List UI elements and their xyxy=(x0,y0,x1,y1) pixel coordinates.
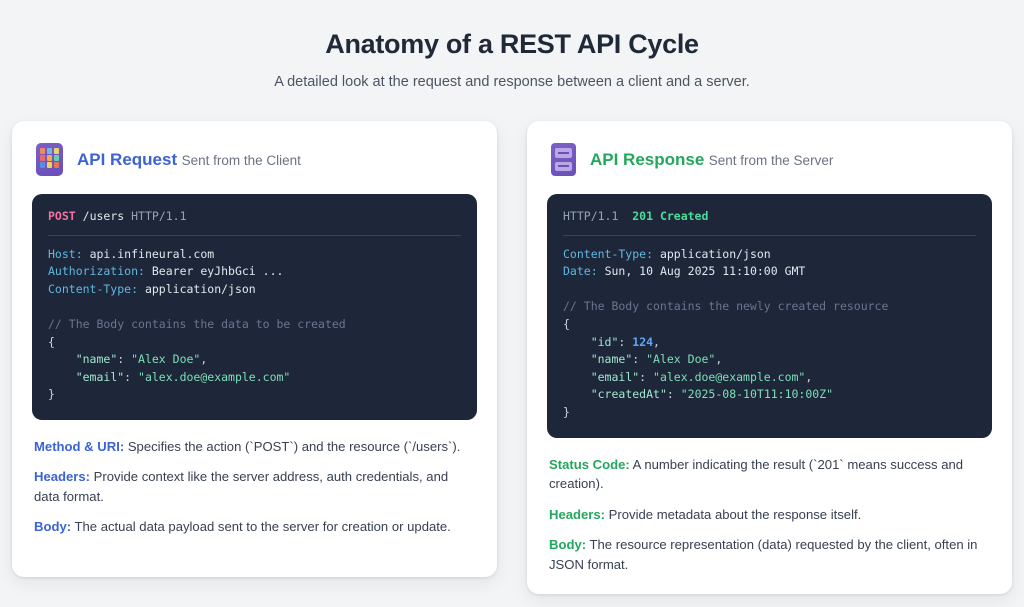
response-note-label-body: Body: xyxy=(549,537,586,552)
server-rack-icon xyxy=(551,143,576,176)
response-body-key-id: "id" xyxy=(591,335,619,349)
request-header-key-authorization: Authorization: xyxy=(48,264,145,278)
api-response-card: API Response Sent from the Server HTTP/1… xyxy=(527,121,1012,594)
response-body-value-createdat: "2025-08-10T11:10:00Z" xyxy=(681,387,833,401)
response-body-trail-id: , xyxy=(653,335,660,349)
response-note-body: Body: The resource representation (data)… xyxy=(549,535,990,574)
response-body-value-name: "Alex Doe" xyxy=(646,352,715,366)
response-header-key-date: Date: xyxy=(563,264,598,278)
response-code-block: HTTP/1.1 201 CreatedContent-Type: applic… xyxy=(547,194,992,438)
response-body-sep-id: : xyxy=(618,335,632,349)
response-header-value-content-type: application/json xyxy=(660,247,771,261)
request-body-value-name: "Alex Doe" xyxy=(131,352,200,366)
cards-container: API Request Sent from the Client POST /u… xyxy=(12,121,1012,594)
response-body-key-createdat: "createdAt" xyxy=(591,387,667,401)
request-body-trail-name: , xyxy=(200,352,207,366)
response-card-header: API Response Sent from the Server xyxy=(547,143,992,176)
response-body-trail-email: , xyxy=(805,370,812,384)
code-spacer xyxy=(48,298,461,316)
request-body-key-name: "name" xyxy=(76,352,118,366)
request-note-headers: Headers: Provide context like the server… xyxy=(34,467,475,506)
response-body-value-id: 124 xyxy=(632,335,653,349)
response-body-value-email: "alex.doe@example.com" xyxy=(653,370,805,384)
response-card-title: API Response xyxy=(590,150,704,169)
request-note-text-headers: Provide context like the server address,… xyxy=(34,469,448,504)
response-card-heading-group: API Response Sent from the Server xyxy=(590,149,833,171)
response-body-open-brace: { xyxy=(563,317,570,331)
request-card-title: API Request xyxy=(77,150,177,169)
response-status-code: 201 Created xyxy=(632,209,708,223)
request-note-label-body: Body: xyxy=(34,519,71,534)
request-code-block: POST /users HTTP/1.1Host: api.infineural… xyxy=(32,194,477,420)
response-notes: Status Code: A number indicating the res… xyxy=(547,455,992,575)
page-root: Anatomy of a REST API Cycle A detailed l… xyxy=(0,0,1024,607)
request-protocol: HTTP/1.1 xyxy=(131,209,186,223)
request-body-sep-name: : xyxy=(117,352,131,366)
request-note-label-method-uri: Method & URI: xyxy=(34,439,124,454)
response-body-comment: // The Body contains the newly created r… xyxy=(563,299,888,313)
response-header-value-date: Sun, 10 Aug 2025 11:10:00 GMT xyxy=(605,264,806,278)
request-note-text-method-uri: Specifies the action (`POST`) and the re… xyxy=(124,439,460,454)
request-note-label-headers: Headers: xyxy=(34,469,90,484)
request-method: POST xyxy=(48,209,76,223)
request-card-subtitle: Sent from the Client xyxy=(182,153,301,168)
response-body-close-brace: } xyxy=(563,405,570,419)
request-note-method-uri: Method & URI: Specifies the action (`POS… xyxy=(34,437,475,457)
request-header-value-content-type: application/json xyxy=(145,282,256,296)
response-body-sep-name: : xyxy=(632,352,646,366)
response-note-label-headers: Headers: xyxy=(549,507,605,522)
request-note-text-body: The actual data payload sent to the serv… xyxy=(71,519,451,534)
request-header-value-host: api.infineural.com xyxy=(90,247,215,261)
code-divider xyxy=(563,235,976,236)
response-body-sep-createdat: : xyxy=(667,387,681,401)
client-grid-icon xyxy=(36,143,63,176)
response-note-text-body: The resource representation (data) reque… xyxy=(549,537,977,572)
response-body-sep-email: : xyxy=(639,370,653,384)
request-body-open-brace: { xyxy=(48,335,55,349)
request-body-close-brace: } xyxy=(48,387,55,401)
request-body-key-email: "email" xyxy=(76,370,124,384)
request-notes: Method & URI: Specifies the action (`POS… xyxy=(32,437,477,537)
response-header-key-content-type: Content-Type: xyxy=(563,247,653,261)
request-note-body: Body: The actual data payload sent to th… xyxy=(34,517,475,537)
response-body-key-name: "name" xyxy=(591,352,633,366)
request-header-value-authorization: Bearer eyJhbGci ... xyxy=(152,264,284,278)
response-card-subtitle: Sent from the Server xyxy=(709,153,834,168)
request-header-key-host: Host: xyxy=(48,247,83,261)
request-card-header: API Request Sent from the Client xyxy=(32,143,477,176)
code-spacer xyxy=(563,281,976,299)
response-note-status-code: Status Code: A number indicating the res… xyxy=(549,455,990,494)
response-note-headers: Headers: Provide metadata about the resp… xyxy=(549,505,990,525)
response-body-key-email: "email" xyxy=(591,370,639,384)
request-path: /users xyxy=(83,209,125,223)
api-request-card: API Request Sent from the Client POST /u… xyxy=(12,121,497,577)
request-body-sep-email: : xyxy=(124,370,138,384)
page-title: Anatomy of a REST API Cycle xyxy=(12,26,1012,62)
page-header: Anatomy of a REST API Cycle A detailed l… xyxy=(12,26,1012,93)
response-protocol: HTTP/1.1 xyxy=(563,209,618,223)
request-body-value-email: "alex.doe@example.com" xyxy=(138,370,290,384)
page-subtitle: A detailed look at the request and respo… xyxy=(12,71,1012,93)
code-divider xyxy=(48,235,461,236)
response-body-trail-name: , xyxy=(715,352,722,366)
response-note-label-status-code: Status Code: xyxy=(549,457,630,472)
request-header-key-content-type: Content-Type: xyxy=(48,282,138,296)
request-body-comment: // The Body contains the data to be crea… xyxy=(48,317,346,331)
response-note-text-headers: Provide metadata about the response itse… xyxy=(605,507,861,522)
request-card-heading-group: API Request Sent from the Client xyxy=(77,149,301,171)
